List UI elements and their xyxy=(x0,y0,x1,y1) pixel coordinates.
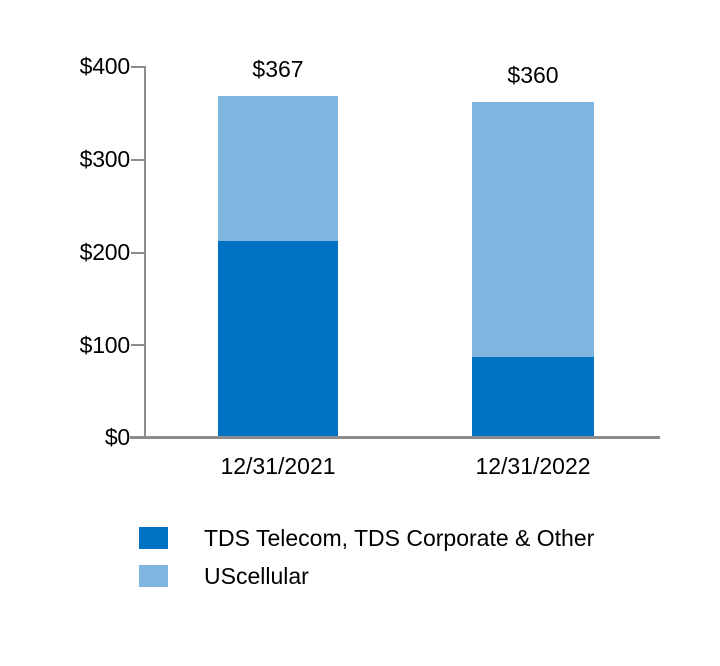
legend-label-tds-telecom: TDS Telecom, TDS Corporate & Other xyxy=(204,527,594,550)
y-axis-tick-label-200: $200 xyxy=(80,241,130,264)
bar-group-12-31-2021[interactable]: $367 xyxy=(218,96,338,436)
x-axis-label-12-31-2022: 12/31/2022 xyxy=(453,455,613,478)
y-axis-tickmark-300 xyxy=(131,159,145,161)
y-axis-tick-label-0: $0 xyxy=(105,426,130,449)
legend-item-uscellular[interactable]: UScellular xyxy=(139,557,594,595)
y-axis-tick-200: $200 xyxy=(48,241,130,264)
y-axis-tick-0: $0 xyxy=(48,426,130,449)
y-axis-tick-label-400: $400 xyxy=(80,55,130,78)
y-axis-tick-label-300: $300 xyxy=(80,148,130,171)
bar-group-12-31-2022[interactable]: $360 xyxy=(472,102,594,436)
bar-segment-tds-telecom-2021[interactable] xyxy=(218,241,338,436)
bar-segment-tds-telecom-2022[interactable] xyxy=(472,357,594,436)
y-axis-tickmark-400 xyxy=(131,66,145,68)
legend-item-tds-telecom[interactable]: TDS Telecom, TDS Corporate & Other xyxy=(139,519,594,557)
stacked-bar-chart: $400 $300 $200 $100 $0 $367 xyxy=(0,0,720,666)
plot-area: $400 $300 $200 $100 $0 $367 xyxy=(0,0,720,500)
y-axis-tick-400: $400 xyxy=(48,55,130,78)
legend-swatch-icon-tds-telecom xyxy=(139,527,168,549)
y-axis-tickmark-200 xyxy=(131,252,145,254)
y-axis-tick-300: $300 xyxy=(48,148,130,171)
chart-legend: TDS Telecom, TDS Corporate & Other UScel… xyxy=(139,519,594,595)
legend-label-uscellular: UScellular xyxy=(204,565,309,588)
x-axis-line xyxy=(130,436,660,439)
bar-total-label-2021: $367 xyxy=(218,58,338,81)
bar-segment-uscellular-2021[interactable] xyxy=(218,96,338,241)
y-axis-tick-label-100: $100 xyxy=(80,334,130,357)
y-axis-tick-100: $100 xyxy=(48,334,130,357)
y-axis-tickmark-100 xyxy=(131,344,145,346)
bar-segment-uscellular-2022[interactable] xyxy=(472,102,594,357)
bar-total-label-2022: $360 xyxy=(472,64,594,87)
x-axis-label-12-31-2021: 12/31/2021 xyxy=(198,455,358,478)
y-axis-line xyxy=(144,66,146,437)
legend-swatch-icon-uscellular xyxy=(139,565,168,587)
